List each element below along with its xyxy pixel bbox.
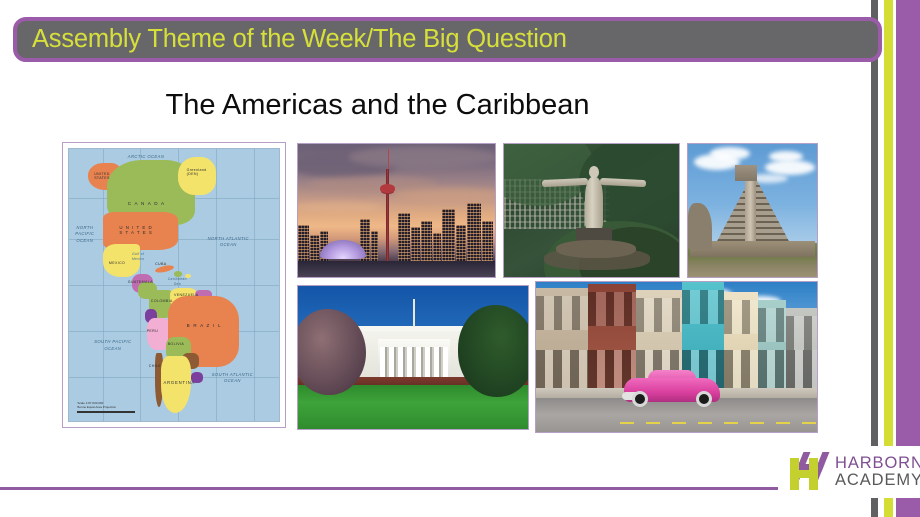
- map-canvas: UNITEDSTATES Greenland(DEN) C A N A D A …: [68, 148, 280, 422]
- slide-subtitle: The Americas and the Caribbean: [166, 89, 590, 122]
- harborne-academy-logo: HARBORNE ACADEMY: [778, 446, 920, 498]
- logo-line-harborne: HARBORNE: [835, 455, 920, 472]
- christ-the-redeemer-photo: [503, 143, 680, 278]
- havana-street-photo: [535, 281, 818, 433]
- purple-band: [896, 0, 920, 517]
- green-stripe: [884, 0, 893, 517]
- americas-political-map: UNITEDSTATES Greenland(DEN) C A N A D A …: [62, 142, 286, 428]
- footer-rule: [0, 487, 862, 490]
- logo-line-academy: ACADEMY: [835, 472, 920, 489]
- chichen-itza-photo: [687, 143, 818, 278]
- slide-subtitle-row: The Americas and the Caribbean: [0, 89, 920, 122]
- slide-title: Assembly Theme of the Week/The Big Quest…: [17, 27, 567, 53]
- grey-stripe: [871, 0, 878, 517]
- title-banner: Assembly Theme of the Week/The Big Quest…: [13, 17, 882, 62]
- logo-wordmark: HARBORNE ACADEMY: [835, 455, 920, 489]
- presentation-slide: Assembly Theme of the Week/The Big Quest…: [0, 0, 920, 517]
- harborne-h-monogram-icon: [784, 452, 828, 492]
- white-house-photo: [297, 285, 529, 430]
- toronto-skyline-photo: [297, 143, 496, 278]
